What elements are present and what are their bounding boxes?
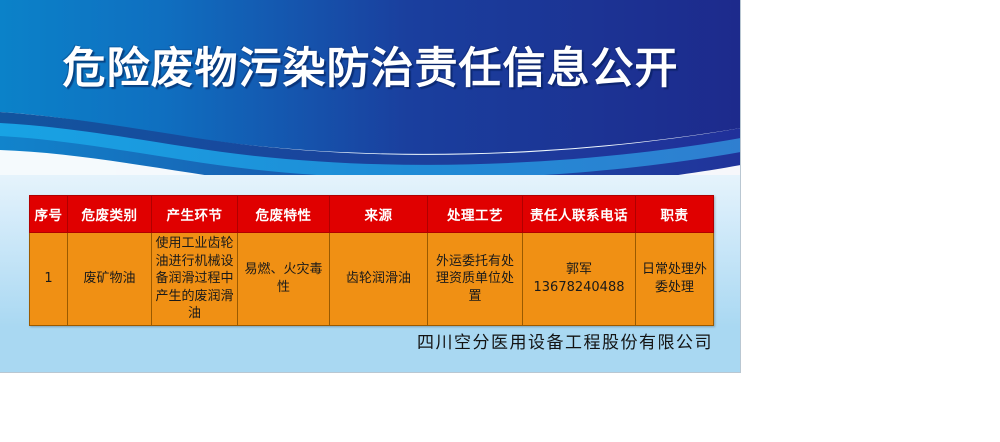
column-header-seq: 序号 <box>30 196 68 233</box>
column-header-process: 处理工艺 <box>428 196 523 233</box>
hazardous-waste-table: 序号 危废类别 产生环节 危废特性 来源 处理工艺 责任人联系电话 职责 1 废… <box>29 195 714 326</box>
cell-treatment-process: 外运委托有处理资质单位处置 <box>428 233 523 326</box>
column-header-phone: 责任人联系电话 <box>523 196 636 233</box>
table-header-row: 序号 危废类别 产生环节 危废特性 来源 处理工艺 责任人联系电话 职责 <box>30 196 714 233</box>
cell-generation-stage: 使用工业齿轮油进行机械设备润滑过程中产生的废润滑油 <box>152 233 238 326</box>
column-header-category: 危废类别 <box>68 196 152 233</box>
column-header-property: 危废特性 <box>238 196 330 233</box>
column-header-stage: 产生环节 <box>152 196 238 233</box>
company-name: 四川空分医用设备工程股份有限公司 <box>0 328 713 353</box>
cell-source: 齿轮润滑油 <box>330 233 428 326</box>
responsible-person-name: 郭军 <box>526 261 632 279</box>
responsible-person-phone: 13678240488 <box>526 279 632 297</box>
cell-responsible-contact: 郭军 13678240488 <box>523 233 636 326</box>
cell-seq: 1 <box>30 233 68 326</box>
banner-header: 危险废物污染防治责任信息公开 <box>0 0 741 175</box>
column-header-duty: 职责 <box>636 196 714 233</box>
poster: 危险废物污染防治责任信息公开 序号 危废类别 产生环节 危废特性 来源 处理工艺… <box>0 0 741 373</box>
column-header-source: 来源 <box>330 196 428 233</box>
cell-hazard-property: 易燃、火灾毒性 <box>238 233 330 326</box>
page-title: 危险废物污染防治责任信息公开 <box>0 47 741 92</box>
cell-duty: 日常处理外委处理 <box>636 233 714 326</box>
table-row: 1 废矿物油 使用工业齿轮油进行机械设备润滑过程中产生的废润滑油 易燃、火灾毒性… <box>30 233 714 326</box>
cell-category: 废矿物油 <box>68 233 152 326</box>
